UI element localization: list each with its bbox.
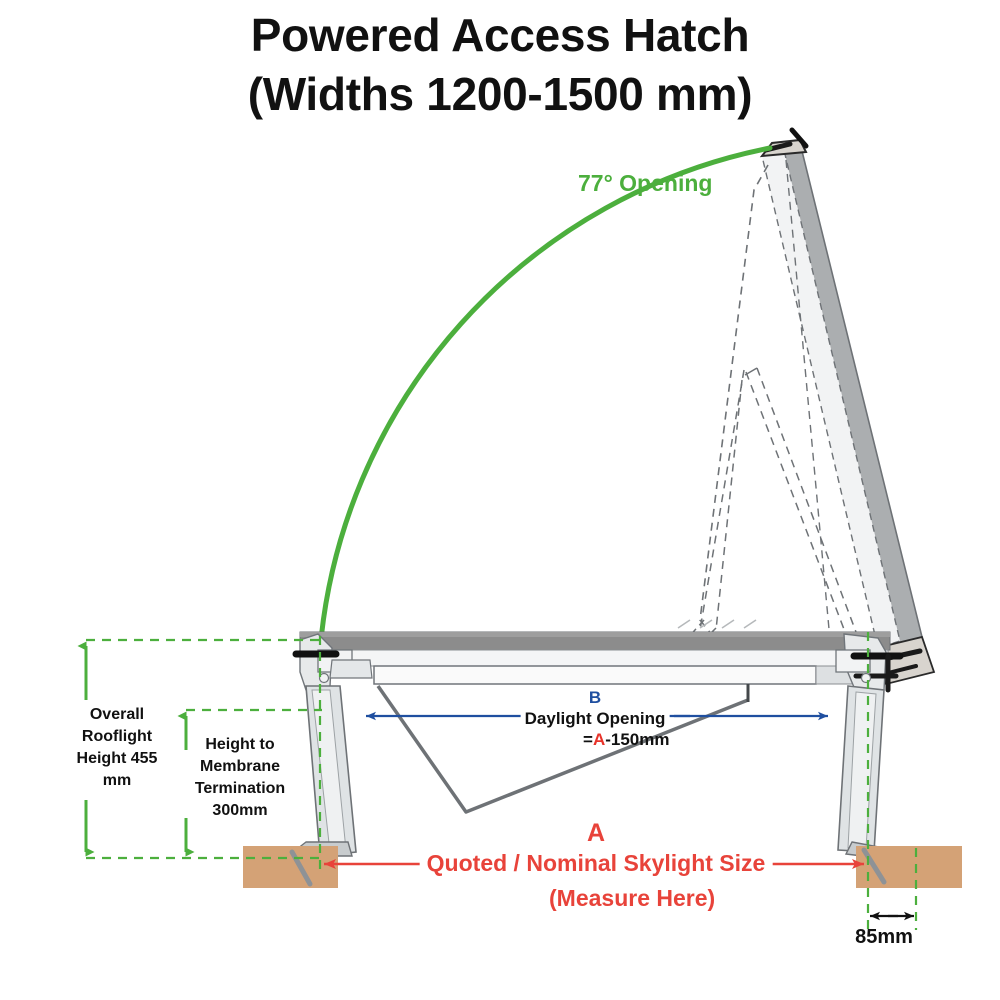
- formula-variable: A: [593, 730, 605, 749]
- closed-lid: [300, 620, 890, 684]
- daylight-code-label: B: [589, 688, 601, 708]
- right-kerb: [838, 686, 906, 856]
- internal-actuator-arm: [378, 684, 748, 812]
- membrane-height-label: Height to Membrane Termination 300mm: [180, 734, 300, 822]
- opening-arc: [320, 148, 770, 650]
- skylight-size-label: Quoted / Nominal Skylight Size: [420, 850, 773, 877]
- daylight-opening-label: Daylight Opening: [521, 709, 670, 729]
- open-lid-phantom: [670, 130, 934, 684]
- kerb-width-label: 85mm: [855, 926, 913, 949]
- opening-angle-label: 77° Opening: [578, 170, 712, 197]
- formula-suffix: -150mm: [605, 730, 669, 749]
- measure-here-label: (Measure Here): [549, 885, 715, 912]
- skylight-code-label: A: [587, 819, 605, 848]
- overall-height-label: Overall Rooflight Height 455 mm: [62, 704, 172, 792]
- daylight-formula-label: =A-150mm: [583, 730, 669, 750]
- diagram-page: Powered Access Hatch (Widths 1200-1500 m…: [0, 0, 1000, 1000]
- formula-prefix: =: [583, 730, 593, 749]
